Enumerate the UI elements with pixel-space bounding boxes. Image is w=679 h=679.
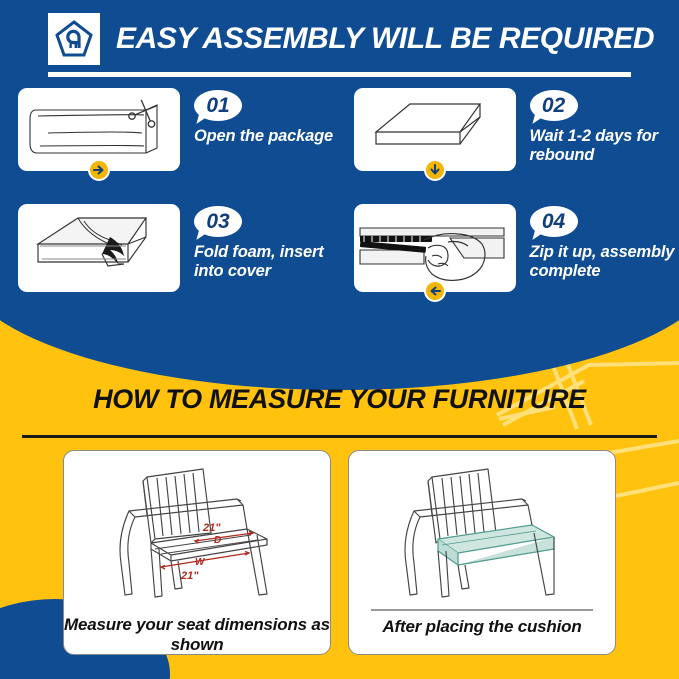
assembly-section: EASY ASSEMBLY WILL BE REQUIRED xyxy=(0,0,679,390)
step-03-text: 03 Fold foam, insert into cover xyxy=(194,204,344,281)
step-02: 02 Wait 1-2 days for rebound xyxy=(344,88,679,171)
step-03: 03 Fold foam, insert into cover xyxy=(0,204,344,292)
section-header: EASY ASSEMBLY WILL BE REQUIRED xyxy=(0,8,679,70)
step-04-number-badge: 04 xyxy=(530,206,578,240)
step-02-illustration-card xyxy=(354,88,516,171)
arrow-left-icon xyxy=(429,285,441,297)
measure-card-cushion-caption: After placing the cushion xyxy=(382,617,581,637)
step-04-illustration-card xyxy=(354,204,516,292)
step-01-text: 01 Open the package xyxy=(194,88,333,146)
step-01-arrow-badge xyxy=(88,159,110,181)
step-03-number-badge: 03 xyxy=(194,206,242,240)
measure-card-dimensions-caption: Measure your seat dimensions as shown xyxy=(64,615,330,654)
step-04: 04 Zip it up, assembly complete xyxy=(344,204,679,292)
measure-card-cushion: After placing the cushion xyxy=(348,450,616,655)
step-03-caption: Fold foam, insert into cover xyxy=(194,243,344,281)
step-01-illustration-card xyxy=(18,88,180,171)
page-title: EASY ASSEMBLY WILL BE REQUIRED xyxy=(116,22,654,56)
step-04-text: 04 Zip it up, assembly complete xyxy=(530,204,679,281)
foam-inserted-into-cover-icon xyxy=(18,204,180,292)
hand-zipping-cover-icon xyxy=(354,204,516,292)
step-03-illustration-card xyxy=(18,204,180,292)
arrow-down-icon xyxy=(429,164,441,176)
step-01-caption: Open the package xyxy=(194,127,333,146)
step-02-number-badge: 02 xyxy=(530,90,578,124)
svg-text:21": 21" xyxy=(180,570,199,582)
steps-row-2: 03 Fold foam, insert into cover xyxy=(0,204,679,292)
step-02-text: 02 Wait 1-2 days for rebound xyxy=(530,88,679,165)
measure-card-separator xyxy=(371,609,593,611)
measure-divider xyxy=(22,435,657,438)
step-02-caption: Wait 1-2 days for rebound xyxy=(530,127,679,165)
chair-with-measurements-icon: 21" D W 21" xyxy=(71,455,323,608)
step-04-arrow-badge xyxy=(424,280,446,302)
step-04-caption: Zip it up, assembly complete xyxy=(530,243,679,281)
chair-with-cushion-icon xyxy=(356,455,608,608)
measure-card-dimensions: 21" D W 21" Measure your seat dimensions… xyxy=(63,450,331,655)
infographic-canvas: EASY ASSEMBLY WILL BE REQUIRED xyxy=(0,0,679,679)
step-01-number-badge: 01 xyxy=(194,90,242,124)
measure-title: HOW TO MEASURE YOUR FURNITURE xyxy=(0,384,679,415)
svg-text:21": 21" xyxy=(202,522,221,534)
step-01: 01 Open the package xyxy=(0,88,344,171)
measure-cards: 21" D W 21" Measure your seat dimensions… xyxy=(0,450,679,655)
steps-row-1: 01 Open the package xyxy=(0,88,679,171)
pentagon-home-icon xyxy=(48,13,100,65)
header-divider xyxy=(48,72,631,77)
svg-text:D: D xyxy=(214,535,221,546)
arrow-right-icon xyxy=(93,164,105,176)
step-04-number: 04 xyxy=(530,206,578,237)
svg-text:W: W xyxy=(195,557,206,568)
step-02-number: 02 xyxy=(530,90,578,121)
step-03-number: 03 xyxy=(194,206,242,237)
steps-grid: 01 Open the package xyxy=(0,88,679,292)
step-01-number: 01 xyxy=(194,90,242,121)
step-02-arrow-badge xyxy=(424,159,446,181)
